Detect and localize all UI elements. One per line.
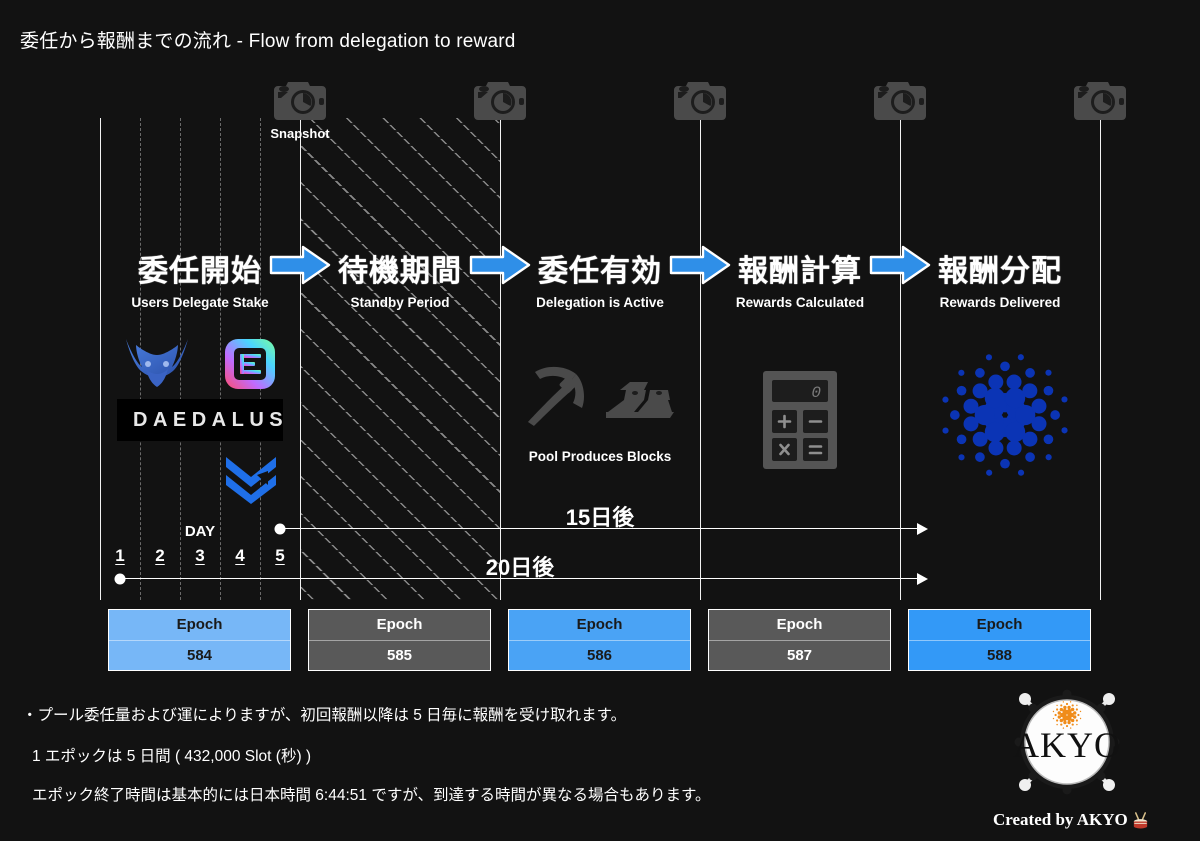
epoch-label-586: Epoch [509, 610, 690, 641]
svg-text:AKYO: AKYO [1013, 725, 1121, 765]
stage-title-en-2: Standby Period [350, 295, 449, 310]
epoch-number-586: 586 [509, 641, 690, 671]
day-number-2: 2 [155, 546, 164, 566]
lace-wallet-logo [224, 453, 278, 505]
flow-arrow-1 [269, 245, 331, 285]
yoroi-wallet-logo [124, 337, 190, 389]
day-number-5: 5 [275, 546, 284, 566]
measure-15-days-start-dot [275, 523, 286, 534]
epoch-box-588[interactable]: Epoch588 [908, 609, 1091, 671]
measure-20-days-label: 20日後 [486, 550, 554, 582]
daedalus-wordmark: DAEDALUS [133, 409, 288, 432]
camera-icon-3 [672, 76, 728, 122]
measure-20-days-arrowhead [917, 573, 928, 585]
stage-title-en-1: Users Delegate Stake [131, 295, 268, 310]
epoch-label-588: Epoch [909, 610, 1090, 641]
flow-arrow-4 [869, 245, 931, 285]
eternl-wallet-logo [225, 339, 275, 389]
epoch-box-584[interactable]: Epoch584 [108, 609, 291, 671]
stage-title-en-5: Rewards Delivered [940, 295, 1061, 310]
stage-title-jp-1: 委任開始 [138, 246, 262, 290]
stage-title-jp-3: 委任有効 [538, 246, 662, 290]
cardano-logo [935, 345, 1075, 490]
note-line-1: ・プール委任量および運によりますが、初回報酬以降は 5 日毎に報酬を受け取れます… [22, 703, 626, 725]
epoch-box-587[interactable]: Epoch587 [708, 609, 891, 671]
blocks-icon [604, 378, 676, 429]
measure-20-days-start-dot [115, 573, 126, 584]
epoch-number-588: 588 [909, 641, 1090, 671]
flow-arrow-3 [669, 245, 731, 285]
epoch-box-586[interactable]: Epoch586 [508, 609, 691, 671]
daedalus-wallet-logo: DAEDALUS [117, 399, 283, 441]
epoch-number-584: 584 [109, 641, 290, 671]
diagram-canvas: 委任から報酬までの流れ - Flow from delegation to re… [0, 0, 1200, 841]
pool-produces-blocks-caption: Pool Produces Blocks [529, 449, 672, 464]
epoch-boundary-line-584-start [100, 118, 101, 600]
created-by-credit: Created by AKYO [993, 810, 1150, 830]
stage-title-en-3: Delegation is Active [536, 295, 664, 310]
camera-icon-5 [1072, 76, 1128, 122]
day-number-1: 1 [115, 546, 124, 566]
akyo-logo: AKYO [1005, 685, 1130, 800]
camera-icon-1 [272, 76, 328, 122]
day-number-3: 3 [195, 546, 204, 566]
epoch-number-585: 585 [309, 641, 490, 671]
calculator-icon: 0 [763, 371, 837, 474]
snapshot-label: Snapshot [270, 126, 329, 141]
svg-text:0: 0 [811, 384, 821, 402]
epoch-boundary-line-588-end [1100, 118, 1101, 600]
day-divider-line-3 [220, 118, 221, 600]
day-scale-label: DAY [185, 523, 215, 540]
epoch-box-585[interactable]: Epoch585 [308, 609, 491, 671]
stage-title-jp-5: 報酬分配 [938, 246, 1062, 290]
page-title: 委任から報酬までの流れ - Flow from delegation to re… [20, 26, 516, 53]
camera-icon-4 [872, 76, 928, 122]
epoch-label-584: Epoch [109, 610, 290, 641]
note-line-2: 1 エポックは 5 日間 ( 432,000 Slot (秒) ) [32, 744, 311, 766]
epoch-number-587: 587 [709, 641, 890, 671]
stage-title-jp-2: 待機期間 [338, 246, 462, 290]
day-number-4: 4 [235, 546, 244, 566]
camera-icon-2 [472, 76, 528, 122]
measure-15-days-arrowhead [917, 523, 928, 535]
credit-text: Created by AKYO [993, 810, 1128, 830]
flow-arrow-2 [469, 245, 531, 285]
epoch-label-585: Epoch [309, 610, 490, 641]
epoch-label-587: Epoch [709, 610, 890, 641]
note-line-3: エポック終了時間は基本的には日本時間 6:44:51 ですが、到達する時間が異な… [32, 783, 710, 805]
measure-15-days-label: 15日後 [566, 500, 634, 532]
pickaxe-icon [522, 362, 590, 433]
stage-title-en-4: Rewards Calculated [736, 295, 864, 310]
drum-icon [1131, 811, 1150, 830]
stage-title-jp-4: 報酬計算 [738, 246, 862, 290]
